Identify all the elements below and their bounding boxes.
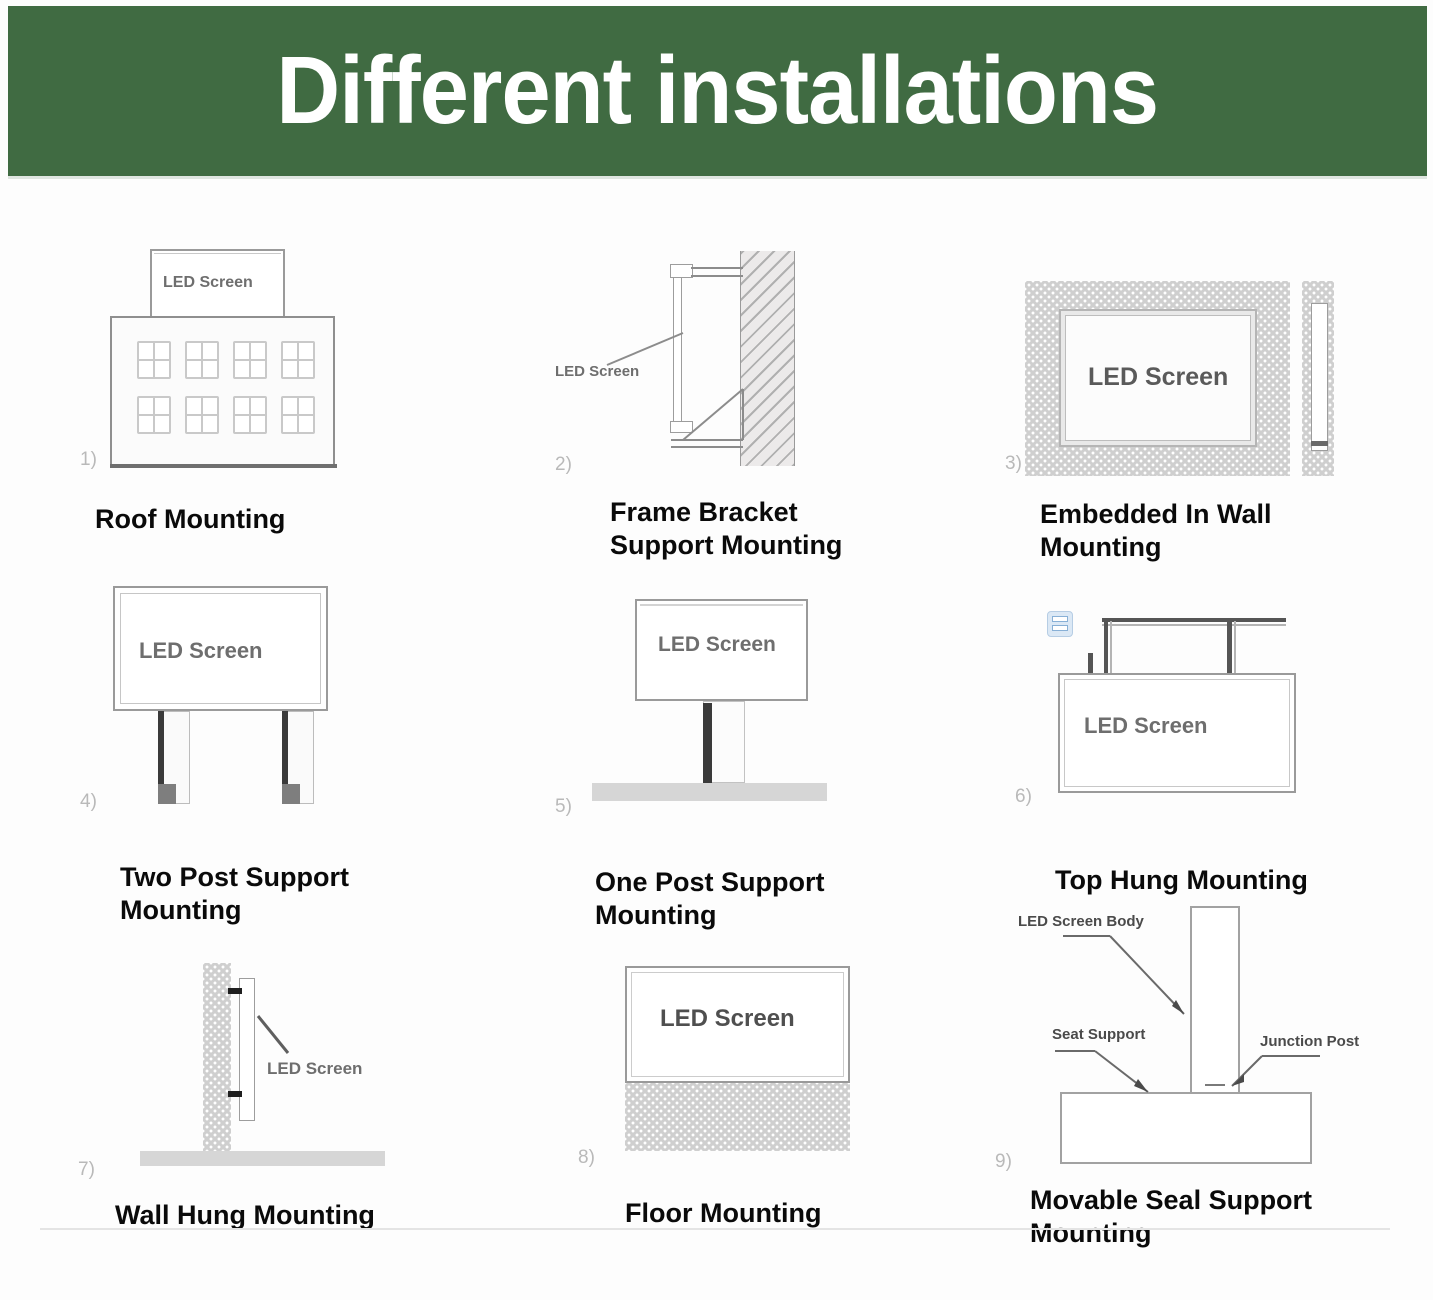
led-screen-label: LED Screen	[555, 363, 639, 380]
support-post-foot	[282, 784, 300, 804]
diagram-index: 3)	[1005, 453, 1022, 475]
led-screen-side-profile	[1311, 303, 1328, 451]
diagram-index: 2)	[555, 454, 572, 476]
infographic-page: Different installations LED Screen	[0, 0, 1433, 1300]
diagram-index: 7)	[78, 1159, 95, 1181]
hanging-rod-edge	[1110, 621, 1112, 673]
diagram-caption: Embedded In Wall Mounting	[1040, 498, 1272, 564]
led-screen-label: LED Screen	[267, 1059, 362, 1079]
led-screen-label: LED Screen	[1088, 363, 1228, 392]
hanger-stub	[1088, 653, 1093, 675]
brace-line	[683, 389, 743, 440]
diagram-caption: Top Hung Mounting	[1055, 864, 1308, 897]
diagram-card-one-post-support-mounting: LED Screen 5) One Post Support Mounting	[555, 581, 985, 926]
hanging-rod	[1104, 621, 1108, 673]
diagram-index: 6)	[1015, 786, 1032, 808]
annotation-led-screen-body: LED Screen Body	[1018, 913, 1144, 930]
leader-line	[607, 333, 683, 365]
leader-line-screen-body	[1110, 936, 1184, 1014]
hanging-rod-edge	[1234, 621, 1236, 673]
window-cell	[233, 396, 267, 434]
ground-bar	[140, 1151, 385, 1166]
diagram-card-wall-hung-mounting: LED Screen 7) Wall Hung Mounting	[75, 941, 505, 1231]
diagram-caption: Wall Hung Mounting	[115, 1199, 375, 1232]
annotation-overlay	[1000, 896, 1433, 1196]
annotation-seat-support: Seat Support	[1052, 1026, 1145, 1043]
diagram-index: 9)	[995, 1151, 1012, 1173]
diagram-caption: Frame Bracket Support Mounting	[610, 496, 842, 562]
diagram-index: 8)	[578, 1147, 595, 1169]
diagram-card-embedded-in-wall-mounting: LED Screen 3) Embedded In Wall Mounting	[1005, 241, 1433, 591]
diagram-index: 1)	[80, 449, 97, 471]
diagram-card-movable-seal-support-mounting: LED Screen Body Seat Support Junction Po…	[1000, 896, 1433, 1226]
leader-line	[258, 1016, 288, 1053]
diagram-card-roof-mounting: LED Screen 1) Roof Mounting	[75, 241, 495, 561]
led-screen-label: LED Screen	[139, 638, 263, 664]
window-cell	[233, 341, 267, 379]
window-cell	[185, 396, 219, 434]
diagram-card-floor-mounting: LED Screen 8) Floor Mounting	[575, 951, 1005, 1241]
diagram-index: 4)	[80, 791, 97, 813]
led-screen-label: LED Screen	[660, 1005, 795, 1033]
screen-inner-top-line	[640, 604, 803, 606]
led-screen-label: LED Screen	[1084, 713, 1208, 739]
header-banner: Different installations	[8, 6, 1427, 176]
diagram-card-frame-bracket-support-mounting: LED Screen 2) Frame Bracket Support Moun…	[555, 241, 985, 591]
window-cell	[137, 341, 171, 379]
diagram-caption: Two Post Support Mounting	[120, 861, 349, 927]
building-body	[110, 316, 335, 466]
overhead-beam-underline	[1102, 624, 1286, 626]
header-underline	[8, 176, 1427, 179]
ground-bar	[592, 783, 827, 801]
arrow-head-seat-support	[1134, 1079, 1148, 1092]
screen-inner-top-line	[154, 253, 281, 254]
diagram-card-top-hung-mounting: LED Screen 6) Top Hung Mounting	[1005, 591, 1433, 921]
floor-base-stippled	[625, 1083, 850, 1151]
support-post-foot	[158, 784, 176, 804]
window-cell	[185, 341, 219, 379]
window-cell	[281, 341, 315, 379]
led-screen-label: LED Screen	[163, 274, 253, 292]
diagram-index: 5)	[555, 796, 572, 818]
diagram-caption: One Post Support Mounting	[595, 866, 825, 932]
led-screen-label: LED Screen	[658, 633, 776, 657]
diagram-caption: Movable Seal Support Mounting	[1030, 1184, 1312, 1250]
diagram-caption: Roof Mounting	[95, 503, 285, 536]
hanging-rod	[1227, 621, 1232, 673]
support-post-shadow	[703, 703, 712, 783]
page-title: Different installations	[277, 36, 1159, 146]
window-cell	[281, 396, 315, 434]
side-profile-base	[1311, 441, 1328, 446]
diagram-card-two-post-support-mounting: LED Screen 4) Two Post Support Mounting	[75, 576, 505, 921]
diagram-grid: LED Screen 1) Roof Mounting	[0, 186, 1433, 1300]
broken-image-icon	[1047, 611, 1073, 637]
diagram-caption: Floor Mounting	[625, 1197, 821, 1230]
building-base-shadow	[110, 464, 337, 468]
arrow-head-junction-post	[1232, 1074, 1244, 1086]
window-cell	[137, 396, 171, 434]
annotation-junction-post: Junction Post	[1260, 1033, 1359, 1050]
bottom-divider	[40, 1228, 1390, 1230]
overhead-beam	[1102, 618, 1286, 622]
